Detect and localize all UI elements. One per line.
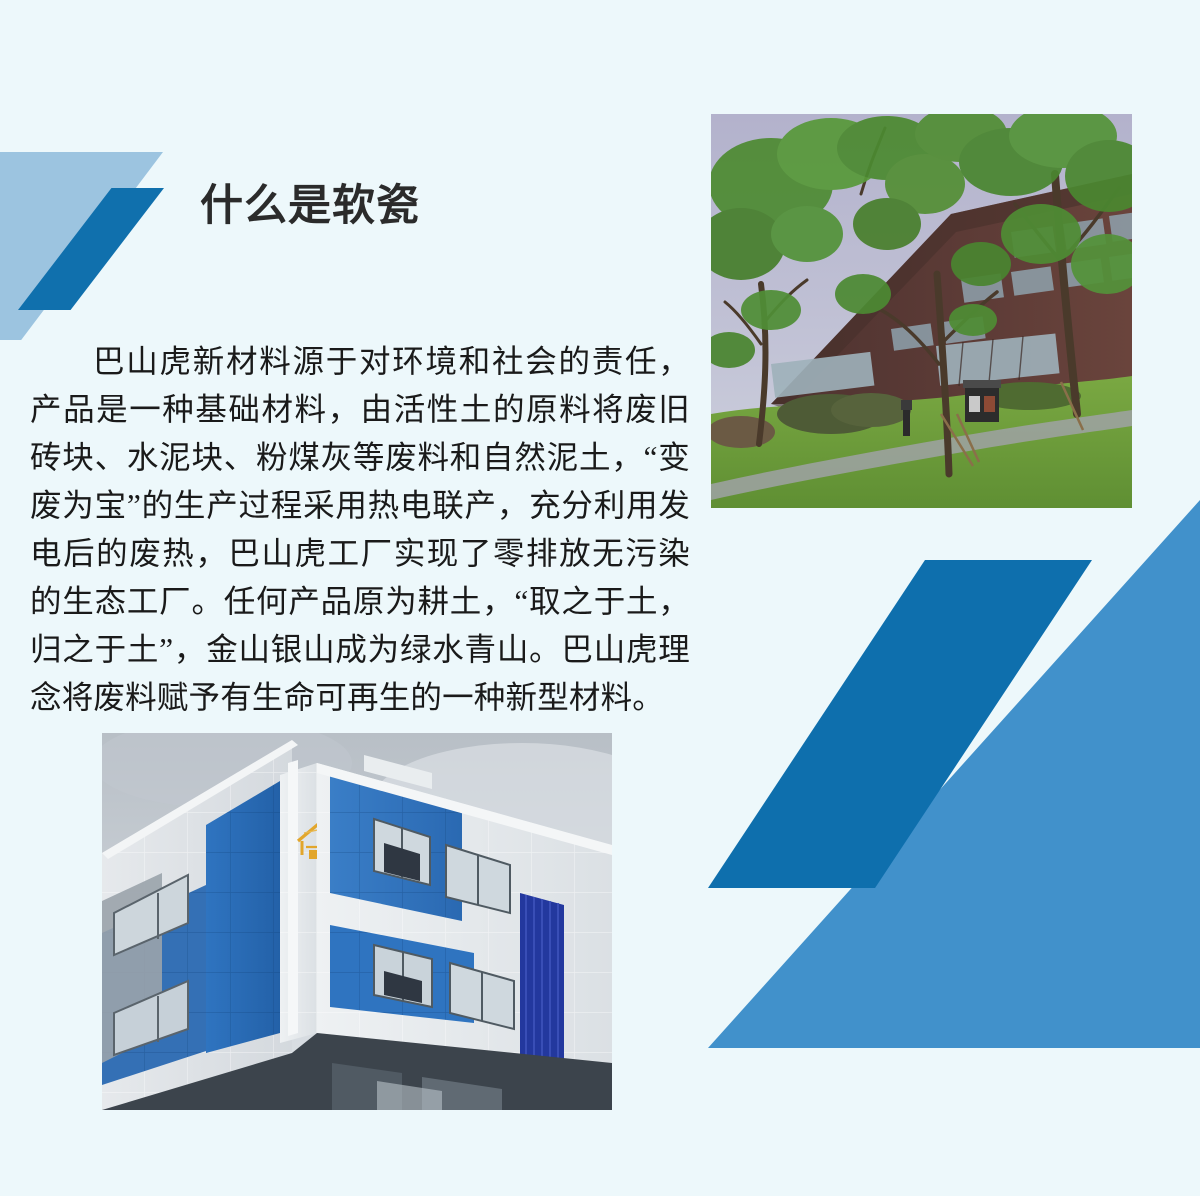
right-dark-blue-band-decoration (708, 560, 1092, 888)
dark-blue-parallelogram-decoration (18, 188, 164, 310)
right-pale-blue-triangle-decoration (708, 500, 1200, 1048)
slide-canvas: 什么是软瓷 巴山虎新材料源于对环境和社会的责任，产品是一种基础材料，由活性土的原… (0, 0, 1200, 1196)
page-title: 什么是软瓷 (200, 183, 420, 230)
pale-blue-triangle-decoration (0, 152, 163, 340)
office-building-photo (102, 733, 612, 1110)
campus-photo (711, 114, 1132, 508)
body-paragraph: 巴山虎新材料源于对环境和社会的责任，产品是一种基础材料，由活性土的原料将废旧砖块… (30, 338, 690, 722)
